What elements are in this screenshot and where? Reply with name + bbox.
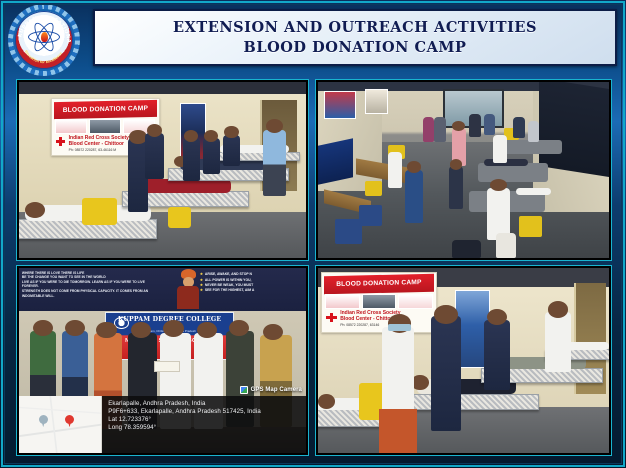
quote-left-4: STRENGTH DOES NOT COME FROM PHYSICAL CAP… <box>22 289 157 298</box>
quote-right-2: ALL POWER IS WITHIN YOU, <box>205 278 252 282</box>
map-pin-grey-icon <box>39 415 48 427</box>
red-cross-banner: BLOOD DONATION CAMP Indian Red Cross Soc… <box>321 272 437 333</box>
gps-map-camera-stamp: GPS Map Camera Ekarlapalle, Andhra Prade… <box>19 396 306 453</box>
photo-bottom-right[interactable]: BLOOD DONATION CAMP Indian Red Cross Soc… <box>316 266 611 455</box>
photo-bottom-left[interactable]: WHERE THERE IS LOVE THERE IS LIFE BE THE… <box>17 266 308 455</box>
gps-place: Ekarlapalle, Andhra Pradesh, India <box>108 400 301 408</box>
atom-icon <box>27 22 61 52</box>
star-icon: ★ <box>200 272 203 276</box>
vivekananda-portrait <box>177 269 200 309</box>
lamp-flame-icon <box>41 32 48 42</box>
quote-right-3: NEVER BE WEAK, YOU MUST <box>205 283 253 287</box>
blue-poster <box>318 138 353 184</box>
quote-right-4: SEE FOR THE HIGHEST, AIM A <box>205 288 254 292</box>
gps-mini-map[interactable] <box>19 396 102 453</box>
presentation-slide: KUPPAM EDUCATIONAL SOCIETY Education for… <box>0 0 626 468</box>
banner-headline: BLOOD DONATION CAMP <box>54 100 157 119</box>
gps-brand-label: GPS Map Camera <box>240 386 302 394</box>
quote-list-right: ★ARISE, AWAKE, AND STOP N ★ALL POWER IS … <box>200 272 303 294</box>
slide-title-line-1: EXTENSION AND OUTREACH ACTIVITIES <box>173 18 537 38</box>
gps-info-block: GPS Map Camera Ekarlapalle, Andhra Prade… <box>102 396 306 453</box>
map-roads <box>19 396 101 453</box>
star-icon: ★ <box>200 278 203 282</box>
star-icon: ★ <box>200 283 203 287</box>
quote-left-3: LIVE AS IF YOU WERE TO DIE TOMORROW. LEA… <box>22 280 157 289</box>
quote-right-1: ARISE, AWAKE, AND STOP N <box>205 272 252 276</box>
gps-longitude: Long 78.359594° <box>108 424 301 432</box>
slide-title-box: EXTENSION AND OUTREACH ACTIVITIES BLOOD … <box>93 9 617 66</box>
map-pin-red-icon <box>65 415 74 427</box>
gps-address: P9F6+633, Ekarlapalle, Andhra Pradesh 51… <box>108 408 301 416</box>
photo-top-right[interactable] <box>316 80 611 260</box>
kuppam-educational-society-logo: KUPPAM EDUCATIONAL SOCIETY Education for… <box>8 4 80 76</box>
gps-map-camera-icon <box>240 386 248 394</box>
slide-title-line-2: BLOOD DONATION CAMP <box>244 38 467 58</box>
face-mask <box>388 324 411 331</box>
photo-top-left[interactable]: BLOOD DONATION CAMP Indian Red Cross Soc… <box>17 80 308 260</box>
vivekananda-quote-banner: WHERE THERE IS LOVE THERE IS LIFE BE THE… <box>19 268 306 311</box>
banner-headline: BLOOD DONATION CAMP <box>324 274 434 294</box>
star-icon: ★ <box>200 288 203 292</box>
slide-header: KUPPAM EDUCATIONAL SOCIETY Education for… <box>0 0 626 78</box>
gps-brand-text: GPS Map Camera <box>251 386 302 394</box>
quote-list-left: WHERE THERE IS LOVE THERE IS LIFE BE THE… <box>22 271 157 299</box>
gps-latitude: Lat 12.723376° <box>108 416 301 424</box>
notice-board <box>539 82 609 177</box>
nurse-skirt <box>379 409 417 453</box>
photo-grid: BLOOD DONATION CAMP Indian Red Cross Soc… <box>17 80 611 455</box>
